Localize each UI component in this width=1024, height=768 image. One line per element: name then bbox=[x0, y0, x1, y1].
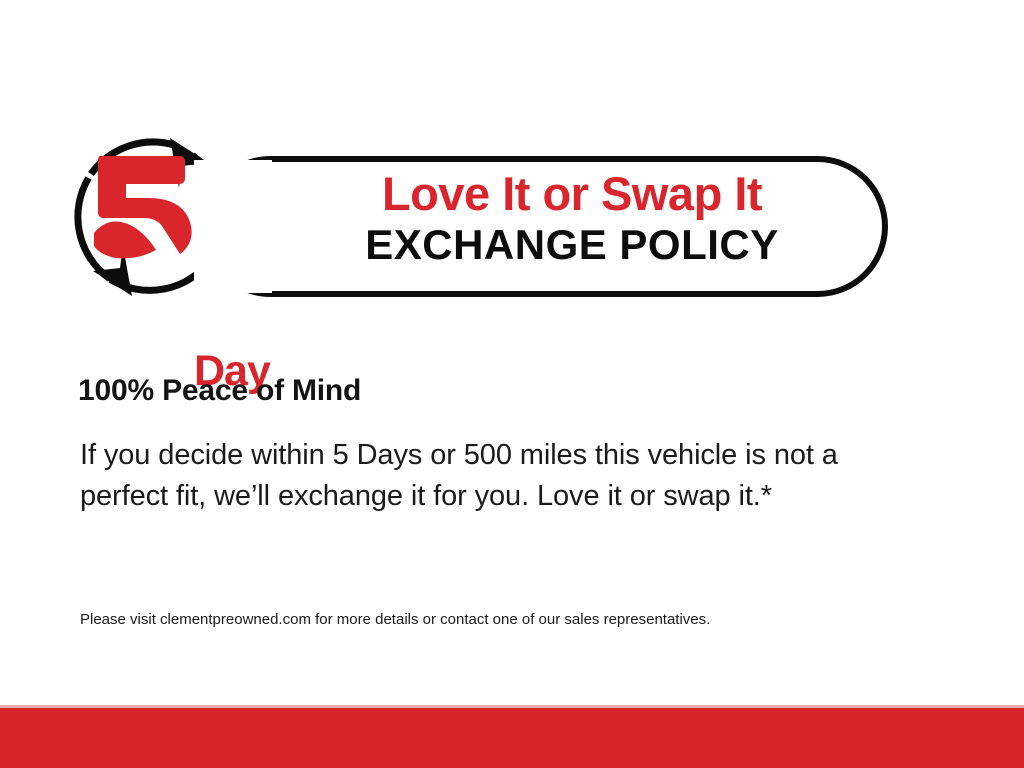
exchange-policy-badge: Day Love It or Swap It EXCHANGE POLICY bbox=[62, 128, 842, 308]
footer-red-bar bbox=[0, 705, 1024, 768]
page-headline: 100% Peace of Mind bbox=[78, 372, 361, 410]
footer-bar-highlight bbox=[0, 705, 1024, 708]
promo-slide: Day Love It or Swap It EXCHANGE POLICY 1… bbox=[0, 0, 1024, 768]
five-numeral-glyph bbox=[86, 154, 204, 264]
fineprint-note: Please visit clementpreowned.com for mor… bbox=[80, 610, 940, 630]
badge-subtitle: EXCHANGE POLICY bbox=[272, 222, 872, 268]
badge-title: Love It or Swap It bbox=[272, 168, 872, 220]
pill-left-mask bbox=[194, 160, 272, 293]
policy-description: If you decide within 5 Days or 500 miles… bbox=[80, 435, 870, 517]
badge-text-block: Love It or Swap It EXCHANGE POLICY bbox=[272, 168, 872, 268]
